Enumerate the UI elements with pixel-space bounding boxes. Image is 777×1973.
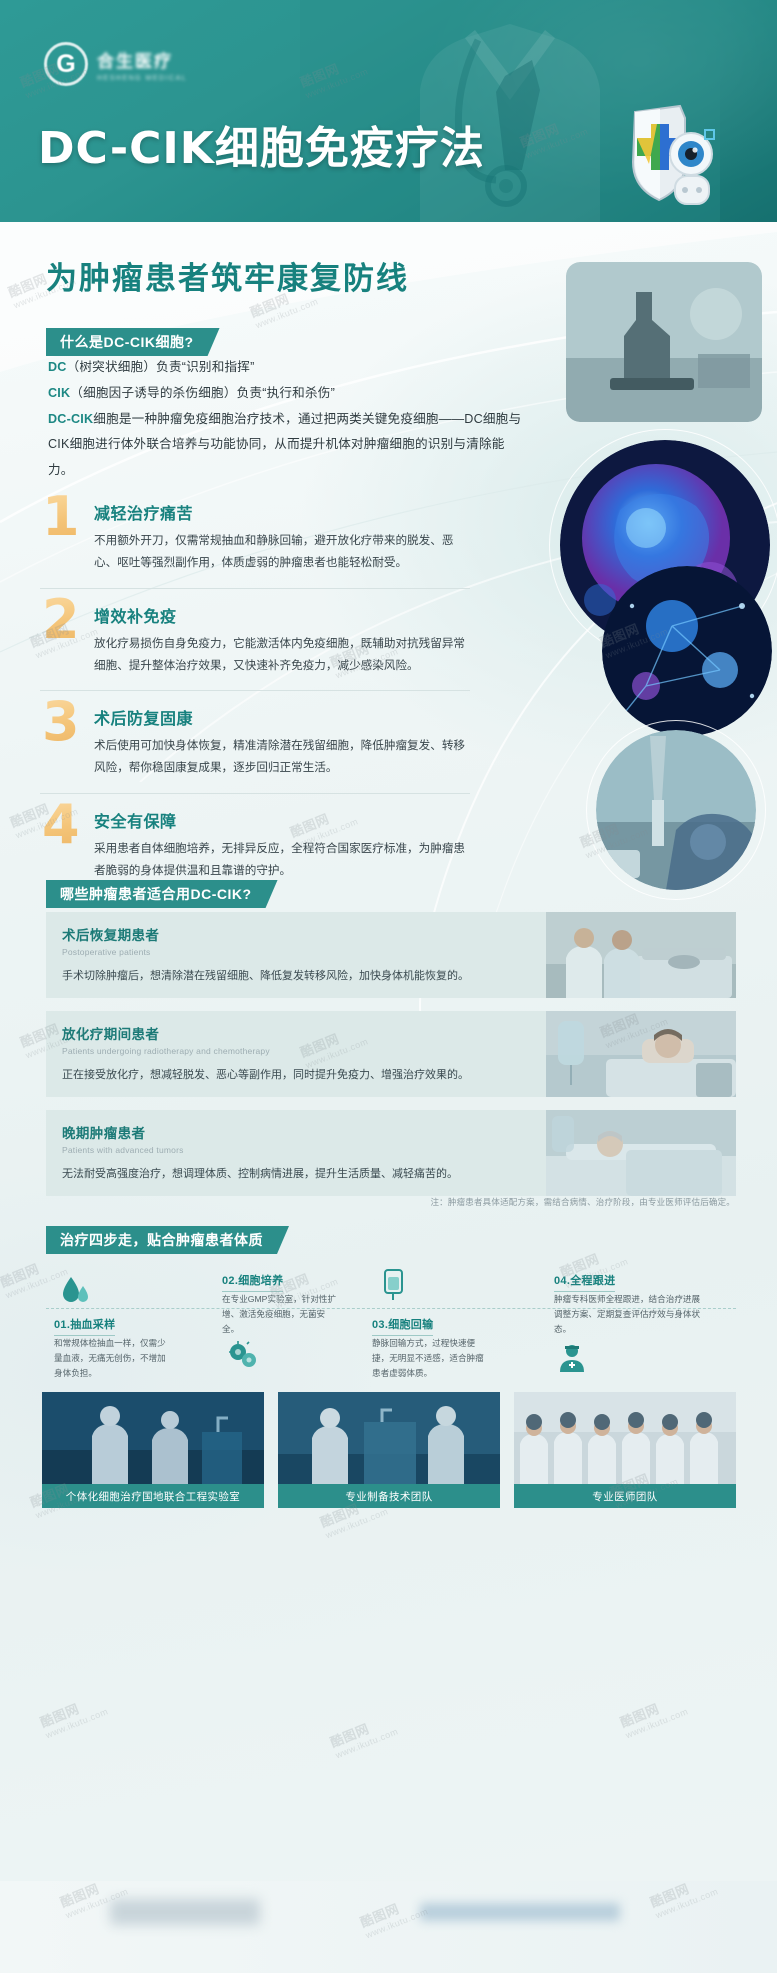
benefit-description: 采用患者自体细胞培养，无排异反应，全程符合国家医疗标准，为肿瘤患者脆弱的身体提供… — [94, 838, 470, 883]
step-description: 在专业GMP实验室，针对性扩增、激活免疫细胞，无菌安全。 — [222, 1292, 340, 1337]
photo-card: 专业制备技术团队 — [278, 1392, 500, 1508]
logo-mark-icon: G — [44, 42, 88, 86]
photo-card: 个体化细胞治疗国地联合工程实验室 — [42, 1392, 264, 1508]
photo-card: 专业医师团队 — [514, 1392, 736, 1508]
benefit-number: 2 — [42, 593, 80, 647]
patient-card-subtitle: Postoperative patients — [62, 947, 532, 957]
benefits-list: 1 减轻治疗痛苦 不用额外开刀，仅需常规抽血和静脉回输，避开放化疗带来的脱发、恶… — [40, 486, 470, 895]
benefit-number: 1 — [42, 490, 80, 544]
intro-line-cik: CIK（细胞因子诱导的杀伤细胞）负责“执行和杀伤” — [48, 381, 528, 407]
hospital-ward-doctors-photo — [546, 912, 736, 998]
section-tag-who-suits: 哪些肿瘤患者适合用DC-CIK? — [46, 880, 278, 908]
benefit-description: 不用额外开刀，仅需常规抽血和静脉回输，避开放化疗带来的脱发、恶心、呕吐等强烈副作… — [94, 530, 470, 575]
step-description: 肿瘤专科医师全程跟进，结合治疗进展调整方案、定期复查评估疗效与身体状态。 — [554, 1292, 704, 1337]
benefit-description: 放化疗易损伤自身免疫力，它能激活体内免疫细胞，既辅助对抗残留异常细胞、提升整体治… — [94, 633, 470, 678]
intro-line-dc: DC（树突状细胞）负责“识别和指挥” — [48, 355, 528, 381]
intro-line-dccik: DC-CIK细胞是一种肿瘤免疫细胞治疗技术，通过把两类关键免疫细胞——DC细胞与… — [48, 407, 528, 484]
benefit-description: 术后使用可加快身体恢复，精准清除潜在残留细胞，降低肿瘤复发、转移风险，帮你稳固康… — [94, 735, 470, 780]
patient-card-title: 放化疗期间患者 — [62, 1023, 532, 1043]
benefit-number: 3 — [42, 695, 80, 749]
patient-card-subtitle: Patients with advanced tumors — [62, 1145, 532, 1155]
subtitle: 为肿瘤患者筑牢康复防线 — [46, 253, 409, 298]
technicians-cleanroom-photo — [278, 1392, 500, 1484]
neuron-network-photo — [602, 566, 772, 736]
step-label: 02.细胞培养 — [222, 1272, 283, 1292]
benefit-item: 4 安全有保障 采用患者自体细胞培养，无排异反应，全程符合国家医疗标准，为肿瘤患… — [40, 793, 470, 896]
patient-card: 术后恢复期患者 Postoperative patients 手术切除肿瘤后，想… — [46, 912, 736, 998]
patient-cards: 术后恢复期患者 Postoperative patients 手术切除肿瘤后，想… — [46, 912, 736, 1209]
photo-caption: 个体化细胞治疗国地联合工程实验室 — [42, 1484, 264, 1508]
footer-logo-blurred — [110, 1899, 260, 1925]
shield-cross-icon — [605, 100, 715, 212]
laboratory-microscope-photo — [42, 1392, 264, 1484]
microscope-lab-photo — [566, 262, 762, 422]
patient-card-subtitle: Patients undergoing radiotherapy and che… — [62, 1046, 532, 1056]
photo-caption: 专业制备技术团队 — [278, 1484, 500, 1508]
facility-photos: 个体化细胞治疗国地联合工程实验室 专业制备技术团队 — [42, 1392, 736, 1508]
benefit-title: 减轻治疗痛苦 — [94, 500, 470, 524]
poster-root: G 合生医疗 HESHENG MEDICAL DC-CIK细胞免疫疗法 — [0, 0, 777, 1973]
poster-header: G 合生医疗 HESHENG MEDICAL DC-CIK细胞免疫疗法 — [0, 0, 777, 222]
poster-footer — [0, 1881, 777, 1973]
section-tag-four-steps: 治疗四步走，贴合肿瘤患者体质 — [46, 1226, 289, 1254]
patient-card: 晚期肿瘤患者 Patients with advanced tumors 无法耐… — [46, 1110, 736, 1196]
step-description: 静脉回输方式，过程快速便捷，无明显不适感，适合肿瘤患者虚弱体质。 — [372, 1336, 490, 1381]
doctor-icon — [556, 1342, 588, 1374]
decorative-ring-2 — [586, 720, 766, 900]
iv-bag-icon — [378, 1268, 408, 1302]
patient-card-description: 正在接受放化疗，想减轻脱发、恶心等副作用，同时提升免疫力、增强治疗效果的。 — [62, 1067, 532, 1085]
chemotherapy-patient-photo — [546, 1011, 736, 1097]
step-description: 和常规体检抽血一样，仅需少量血液，无痛无创伤，不增加身体负担。 — [54, 1336, 172, 1381]
step-label: 03.细胞回输 — [372, 1316, 433, 1336]
elderly-patient-bed-photo — [546, 1110, 736, 1196]
patient-card-title: 术后恢复期患者 — [62, 924, 532, 944]
benefit-number: 4 — [42, 798, 80, 852]
patient-card-title: 晚期肿瘤患者 — [62, 1122, 532, 1142]
benefit-title: 增效补免疫 — [94, 603, 470, 627]
treatment-steps: 01.抽血采样 和常规体检抽血一样，仅需少量血液，无痛无创伤，不增加身体负担。 … — [0, 1264, 777, 1394]
disclaimer-note: 注：肿瘤患者具体适配方案，需结合病情、治疗阶段，由专业医师评估后确定。 — [430, 1196, 735, 1208]
benefit-item: 2 增效补免疫 放化疗易损伤自身免疫力，它能激活体内免疫细胞，既辅助对抗残留异常… — [40, 588, 470, 691]
patient-card-description: 无法耐受高强度治疗，想调理体质、控制病情进展，提升生活质量、减轻痛苦的。 — [62, 1166, 532, 1184]
logo-name: 合生医疗 — [97, 47, 187, 72]
benefit-title: 安全有保障 — [94, 808, 470, 832]
step-label: 04.全程跟进 — [554, 1272, 615, 1292]
step-label: 01.抽血采样 — [54, 1316, 115, 1336]
patient-card-description: 手术切除肿瘤后，想清除潜在残留细胞、降低复发转移风险，加快身体机能恢复的。 — [62, 968, 532, 986]
footer-text-blurred — [420, 1903, 620, 1921]
intro-paragraph-block: DC（树突状细胞）负责“识别和指挥” CIK（细胞因子诱导的杀伤细胞）负责“执行… — [48, 355, 528, 484]
photo-caption: 专业医师团队 — [514, 1484, 736, 1508]
benefit-item: 3 术后防复固康 术后使用可加快身体恢复，精准清除潜在残留细胞，降低肿瘤复发、转… — [40, 690, 470, 793]
section-tag-what-is: 什么是DC-CIK细胞? — [46, 328, 220, 356]
benefit-item: 1 减轻治疗痛苦 不用额外开刀，仅需常规抽血和静脉回输，避开放化疗带来的脱发、恶… — [40, 486, 470, 588]
blood-drop-icon — [58, 1274, 92, 1308]
cell-culture-icon — [226, 1338, 260, 1372]
brand-logo: G 合生医疗 HESHENG MEDICAL — [44, 42, 187, 86]
page-title: DC-CIK细胞免疫疗法 — [38, 112, 485, 176]
benefit-title: 术后防复固康 — [94, 705, 470, 729]
patient-card: 放化疗期间患者 Patients undergoing radiotherapy… — [46, 1011, 736, 1097]
logo-subtitle: HESHENG MEDICAL — [97, 75, 187, 82]
medical-team-group-photo — [514, 1392, 736, 1484]
